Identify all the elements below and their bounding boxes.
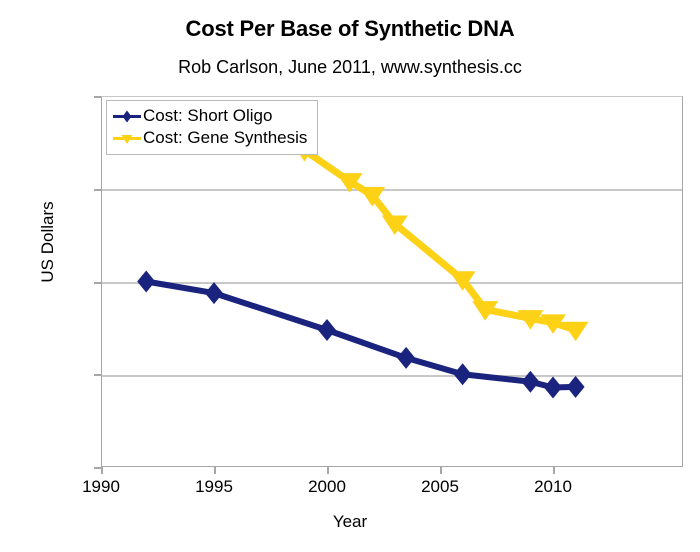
page-title: Cost Per Base of Synthetic DNA <box>0 16 700 42</box>
y-axis-label: US Dollars <box>38 152 58 332</box>
legend-item-gene-synthesis[interactable]: Cost: Gene Synthesis <box>113 127 307 149</box>
legend: Cost: Short Oligo Cost: Gene Synthesis <box>106 100 318 155</box>
x-tick-label-2005: 2005 <box>400 477 480 497</box>
y-tick-mark <box>94 282 101 284</box>
legend-item-label: Cost: Gene Synthesis <box>143 128 307 148</box>
x-tick-mark <box>327 467 329 474</box>
y-tick-mark <box>94 96 101 98</box>
legend-item-label: Cost: Short Oligo <box>143 106 272 126</box>
legend-item-short-oligo[interactable]: Cost: Short Oligo <box>113 105 307 127</box>
x-axis-label: Year <box>0 512 700 532</box>
x-tick-label-2010: 2010 <box>513 477 593 497</box>
x-tick-label-1990: 1990 <box>61 477 141 497</box>
x-tick-mark <box>553 467 555 474</box>
gridline-1 <box>102 282 682 284</box>
y-tick-mark <box>94 374 101 376</box>
diamond-marker-icon <box>113 108 141 124</box>
x-tick-mark <box>440 467 442 474</box>
x-tick-label-1995: 1995 <box>174 477 254 497</box>
y-tick-mark <box>94 189 101 191</box>
y-tick-mark <box>94 467 101 469</box>
x-tick-mark <box>101 467 103 474</box>
gridline-10 <box>102 189 682 191</box>
triangle-down-marker-icon <box>113 130 141 146</box>
x-tick-label-2000: 2000 <box>287 477 367 497</box>
gridline-0.1 <box>102 375 682 377</box>
chart-subtitle: Rob Carlson, June 2011, www.synthesis.cc <box>0 57 700 78</box>
x-tick-mark <box>214 467 216 474</box>
chart-page: Cost Per Base of Synthetic DNA Rob Carls… <box>0 0 700 552</box>
